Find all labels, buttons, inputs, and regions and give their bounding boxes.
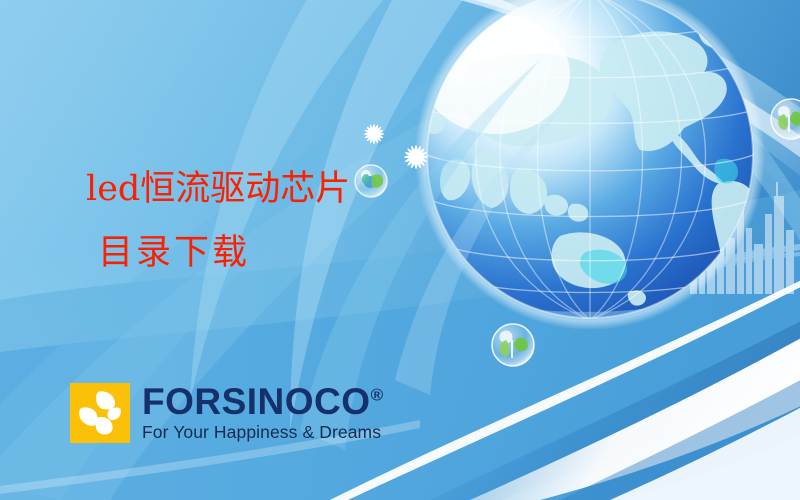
sparkle-asterisk-left bbox=[364, 124, 384, 144]
bubble-globe-small bbox=[355, 165, 387, 197]
pinwheel-flower-mark-icon bbox=[70, 383, 130, 443]
bubble-leaf-center bbox=[492, 324, 534, 366]
headline-line-2: 目录下载 bbox=[98, 236, 250, 271]
banner-canvas: led恒流驱动芯片 目录下载 FORSINOCO® For Your Happi… bbox=[0, 0, 800, 500]
registered-trademark-icon: ® bbox=[371, 386, 384, 405]
sparkle-asterisk-right bbox=[404, 145, 428, 169]
headline-line-1: led恒流驱动芯片 bbox=[86, 172, 350, 207]
logo-text-block: FORSINOCO® For Your Happiness & Dreams bbox=[142, 383, 384, 442]
logo-wordmark-text: FORSINOCO bbox=[142, 381, 371, 422]
company-logo[interactable]: FORSINOCO® For Your Happiness & Dreams bbox=[70, 383, 384, 443]
logo-wordmark: FORSINOCO® bbox=[142, 383, 384, 421]
logo-tagline: For Your Happiness & Dreams bbox=[142, 422, 384, 442]
